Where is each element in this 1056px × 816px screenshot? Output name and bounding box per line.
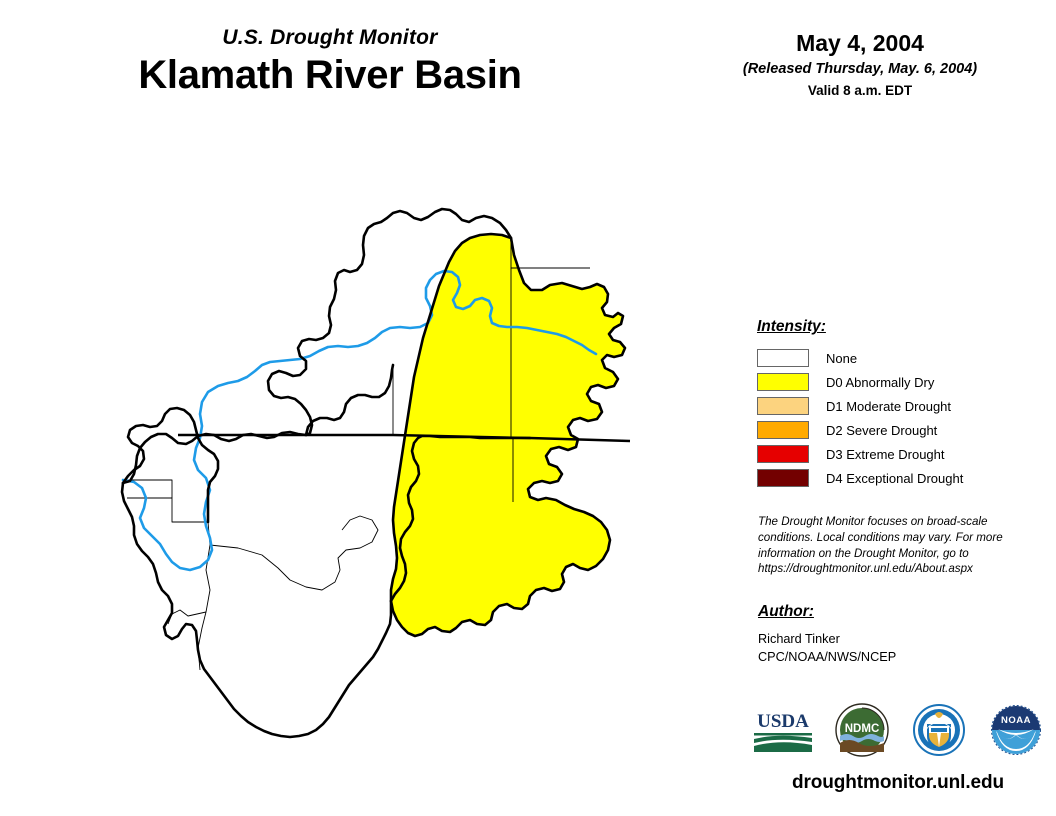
- legend-label-d2: D2 Severe Drought: [826, 423, 937, 438]
- legend-swatch-d4: [757, 469, 809, 487]
- legend-label-d3: D3 Extreme Drought: [826, 447, 945, 462]
- legend-label-d0: D0 Abnormally Dry: [826, 375, 934, 390]
- legend-swatch-d3: [757, 445, 809, 463]
- legend-item-d2[interactable]: D2 Severe Drought: [748, 418, 1048, 442]
- svg-text:NOAA: NOAA: [1001, 715, 1031, 726]
- legend-heading: Intensity:: [757, 318, 1048, 336]
- noaa-logo[interactable]: NOAA: [988, 703, 1044, 757]
- legend-label-none: None: [826, 351, 857, 366]
- legend-swatch-d1: [757, 397, 809, 415]
- site-url[interactable]: droughtmonitor.unl.edu: [748, 772, 1048, 794]
- basin-outline-lower-west: [122, 483, 391, 737]
- legend-swatch-none: [757, 349, 809, 367]
- legend-item-d3[interactable]: D3 Extreme Drought: [748, 442, 1048, 466]
- svg-text:NDMC: NDMC: [845, 723, 880, 735]
- ndmc-logo[interactable]: NDMC: [835, 703, 889, 757]
- legend-item-d1[interactable]: D1 Moderate Drought: [748, 394, 1048, 418]
- drought-monitor-subtitle: U.S. Drought Monitor: [0, 26, 660, 49]
- release-date: (Released Thursday, May. 6, 2004): [686, 61, 1034, 78]
- legend-item-d4[interactable]: D4 Exceptional Drought: [748, 466, 1048, 490]
- legend-label-d1: D1 Moderate Drought: [826, 399, 951, 414]
- map-date: May 4, 2004: [686, 30, 1034, 56]
- legend-item-d0[interactable]: D0 Abnormally Dry: [748, 370, 1048, 394]
- legend-swatch-d2: [757, 421, 809, 439]
- legend-panel: Intensity: None D0 Abnormally Dry D1 Mod…: [748, 318, 1048, 666]
- legend-item-none[interactable]: None: [748, 346, 1048, 370]
- usda-logo[interactable]: USDA: [752, 706, 814, 754]
- unl-seal-logo[interactable]: [911, 702, 967, 758]
- author-heading: Author:: [758, 603, 1048, 621]
- author-name: Richard Tinker: [758, 630, 1048, 648]
- logo-row: USDA NDMC NOAA: [752, 702, 1044, 758]
- basin-outline-mid-tab: [306, 365, 393, 435]
- valid-time: Valid 8 a.m. EDT: [686, 83, 1034, 99]
- legend-label-d4: D4 Exceptional Drought: [826, 471, 963, 486]
- author-affiliation: CPC/NOAA/NWS/NCEP: [758, 648, 1048, 666]
- page-title: Klamath River Basin: [0, 53, 660, 98]
- header-date-block: May 4, 2004 (Released Thursday, May. 6, …: [686, 30, 1034, 99]
- disclaimer-text: The Drought Monitor focuses on broad-sca…: [758, 514, 1026, 577]
- header-left: U.S. Drought Monitor Klamath River Basin: [0, 26, 660, 98]
- svg-text:USDA: USDA: [757, 711, 809, 732]
- legend-swatch-d0: [757, 373, 809, 391]
- author-info: Richard Tinker CPC/NOAA/NWS/NCEP: [758, 630, 1048, 666]
- map-svg: [110, 150, 670, 740]
- drought-map[interactable]: [110, 150, 670, 740]
